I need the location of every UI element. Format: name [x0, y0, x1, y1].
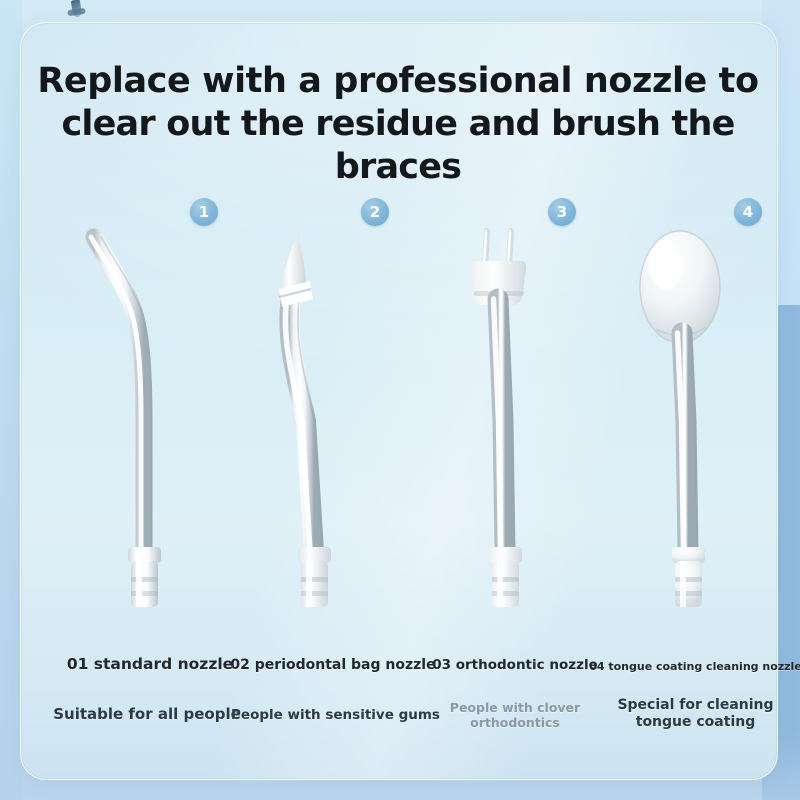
step-badge-3: 3: [548, 198, 576, 226]
step-badge-2: 2: [361, 198, 389, 226]
nozzle-title-2: 02 periodontal bag nozzle: [228, 657, 438, 673]
tapered-cone-tip-nozzle-icon: [240, 225, 430, 625]
nozzle-illustration-2: [240, 225, 430, 625]
page-title: Replace with a professional nozzle to cl…: [20, 60, 776, 189]
nozzle-illustration-4: [608, 225, 798, 625]
nozzle-subtitle-4-line-1: Special for cleaning: [617, 697, 773, 713]
nozzle-title-4: 04 tongue coating cleaning nozzle: [588, 660, 800, 673]
nozzle-subtitle-3-line-2: orthodontics: [470, 715, 560, 730]
step-badge-1: 1: [190, 198, 218, 226]
product-infographic: Replace with a professional nozzle to cl…: [0, 0, 800, 800]
nozzle-subtitle-3-line-1: People with clover: [450, 700, 580, 715]
step-badge-4: 4: [734, 198, 762, 226]
nozzle-illustration-3: [425, 225, 615, 625]
headline-line-2: clear out the residue and brush the brac…: [20, 103, 776, 189]
top-edge-artifact: [71, 0, 82, 18]
twin-prong-orthodontic-nozzle-icon: [425, 225, 615, 625]
nozzle-title-1: 01 standard nozzle: [45, 655, 255, 673]
nozzle-subtitle-4: Special for cleaning tongue coating: [598, 697, 793, 731]
nozzle-illustration-1: [60, 225, 250, 625]
nozzle-subtitle-4-line-2: tongue coating: [636, 714, 755, 730]
nozzle-subtitle-3: People with clover orthodontics: [425, 700, 605, 730]
nozzle-subtitle-2: People with sensitive gums: [228, 707, 443, 723]
headline-line-1: Replace with a professional nozzle to: [37, 61, 758, 101]
left-accent-band: [0, 0, 22, 800]
spoon-scraper-tongue-nozzle-icon: [608, 225, 798, 625]
nozzle-title-3: 03 orthodontic nozzle: [420, 657, 610, 673]
nozzle-subtitle-1: Suitable for all people: [42, 705, 252, 723]
standard-jet-tip-nozzle-icon: [60, 225, 250, 625]
